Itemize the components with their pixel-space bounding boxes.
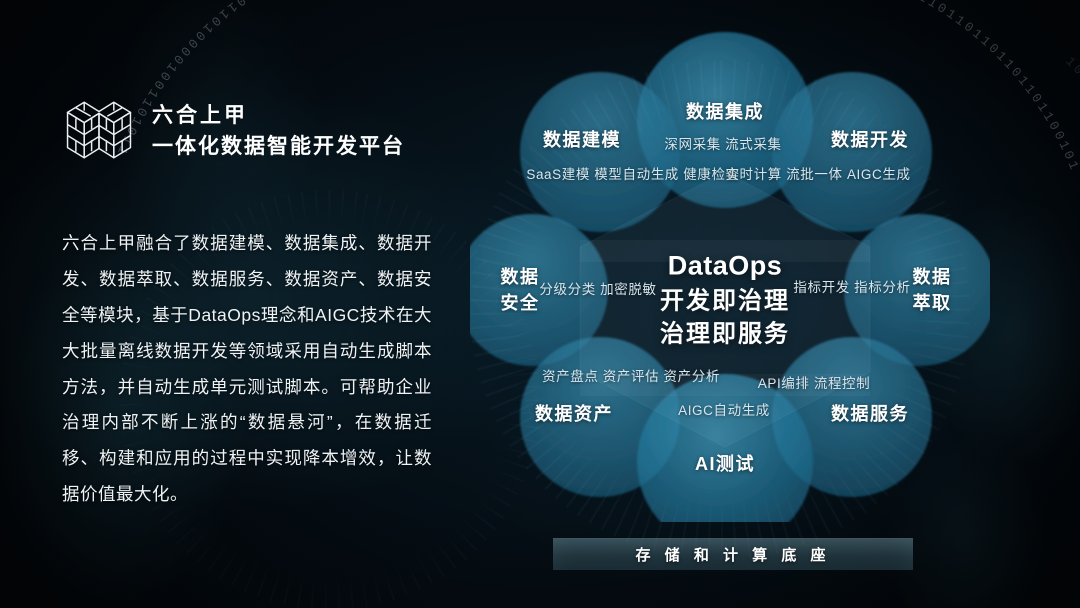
venn-label-data-asset[interactable]: 数据资产 xyxy=(535,401,613,427)
base-bar-label: 存 储 和 计 算 底 座 xyxy=(635,544,830,565)
venn-items-data-integration: 深网采集 流式采集 xyxy=(664,134,781,156)
center-title: DataOps xyxy=(660,248,790,285)
left-column: 六合上甲 一体化数据智能开发平台 六合上甲融合了数据建模、数据集成、数据开发、数… xyxy=(62,92,432,513)
venn-items-data-development: 实时计算 流批一体 AIGC生成 xyxy=(725,164,910,186)
venn-label-data-development[interactable]: 数据开发 xyxy=(831,127,909,153)
brand-header: 六合上甲 一体化数据智能开发平台 xyxy=(62,92,432,168)
venn-label-data-integration[interactable]: 数据集成 xyxy=(686,99,764,125)
brick-wall-isometric-icon xyxy=(62,92,136,168)
brand-subtitle: 一体化数据智能开发平台 xyxy=(152,131,405,163)
venn-items-data-security: 分级分类 加密脱敏 xyxy=(539,279,656,301)
venn-label-data-service[interactable]: 数据服务 xyxy=(831,401,909,427)
venn-items-ai-test: AIGC自动生成 xyxy=(678,400,770,422)
venn-items-data-modeling: SaaS建模 模型自动生成 健康检查 xyxy=(526,164,739,186)
brand-name: 六合上甲 xyxy=(152,100,405,132)
storage-compute-base-bar: 存 储 和 计 算 底 座 xyxy=(553,538,913,570)
center-line-2: 治理即服务 xyxy=(660,317,790,350)
center-line-1: 开发即治理 xyxy=(660,284,790,317)
venn-label-data-security[interactable]: 数据 安全 xyxy=(501,264,540,316)
venn-label-data-extraction[interactable]: 数据 萃取 xyxy=(913,264,952,316)
brand-text-block: 六合上甲 一体化数据智能开发平台 xyxy=(152,98,405,163)
venn-items-data-service: API编排 流程控制 xyxy=(758,373,871,395)
venn-diagram: 数据集成 数据建模 数据开发 数据 安全 数据 萃取 数据资产 数据服务 AI测… xyxy=(470,22,990,522)
venn-label-ai-test[interactable]: AI测试 xyxy=(695,451,755,477)
venn-label-data-modeling[interactable]: 数据建模 xyxy=(543,127,621,153)
slide-canvas: 0110100001001101011 11011011011011011001… xyxy=(0,0,1080,608)
venn-center-text: DataOps 开发即治理 治理即服务 xyxy=(660,248,790,351)
venn-items-data-asset: 资产盘点 资产评估 资产分析 xyxy=(542,366,720,388)
product-description: 六合上甲融合了数据建模、数据集成、数据开发、数据萃取、数据服务、数据资产、数据安… xyxy=(62,226,432,513)
venn-items-data-extraction: 指标开发 指标分析 xyxy=(793,277,910,299)
